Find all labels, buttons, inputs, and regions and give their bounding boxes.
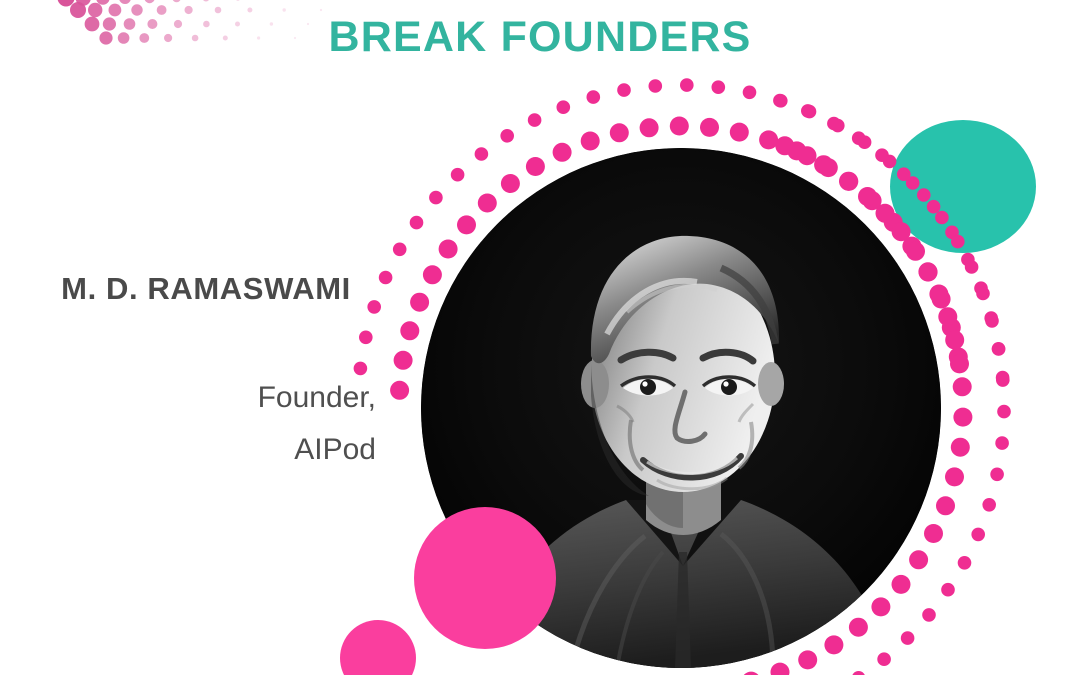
speaker-role-line-2: AIPod bbox=[36, 424, 376, 476]
speaker-poster: BREAK FOUNDERS M. D. RAMASWAMI Founder, … bbox=[0, 0, 1080, 675]
teal-accent-circle bbox=[890, 120, 1036, 253]
speaker-role-line-1: Founder, bbox=[36, 372, 376, 424]
pink-accent-circle-small bbox=[340, 620, 416, 675]
page-title: BREAK FOUNDERS bbox=[0, 16, 1080, 59]
pink-accent-circle-large bbox=[414, 507, 556, 649]
speaker-name: M. D. RAMASWAMI bbox=[36, 271, 376, 307]
speaker-role: Founder, AIPod bbox=[36, 372, 376, 476]
